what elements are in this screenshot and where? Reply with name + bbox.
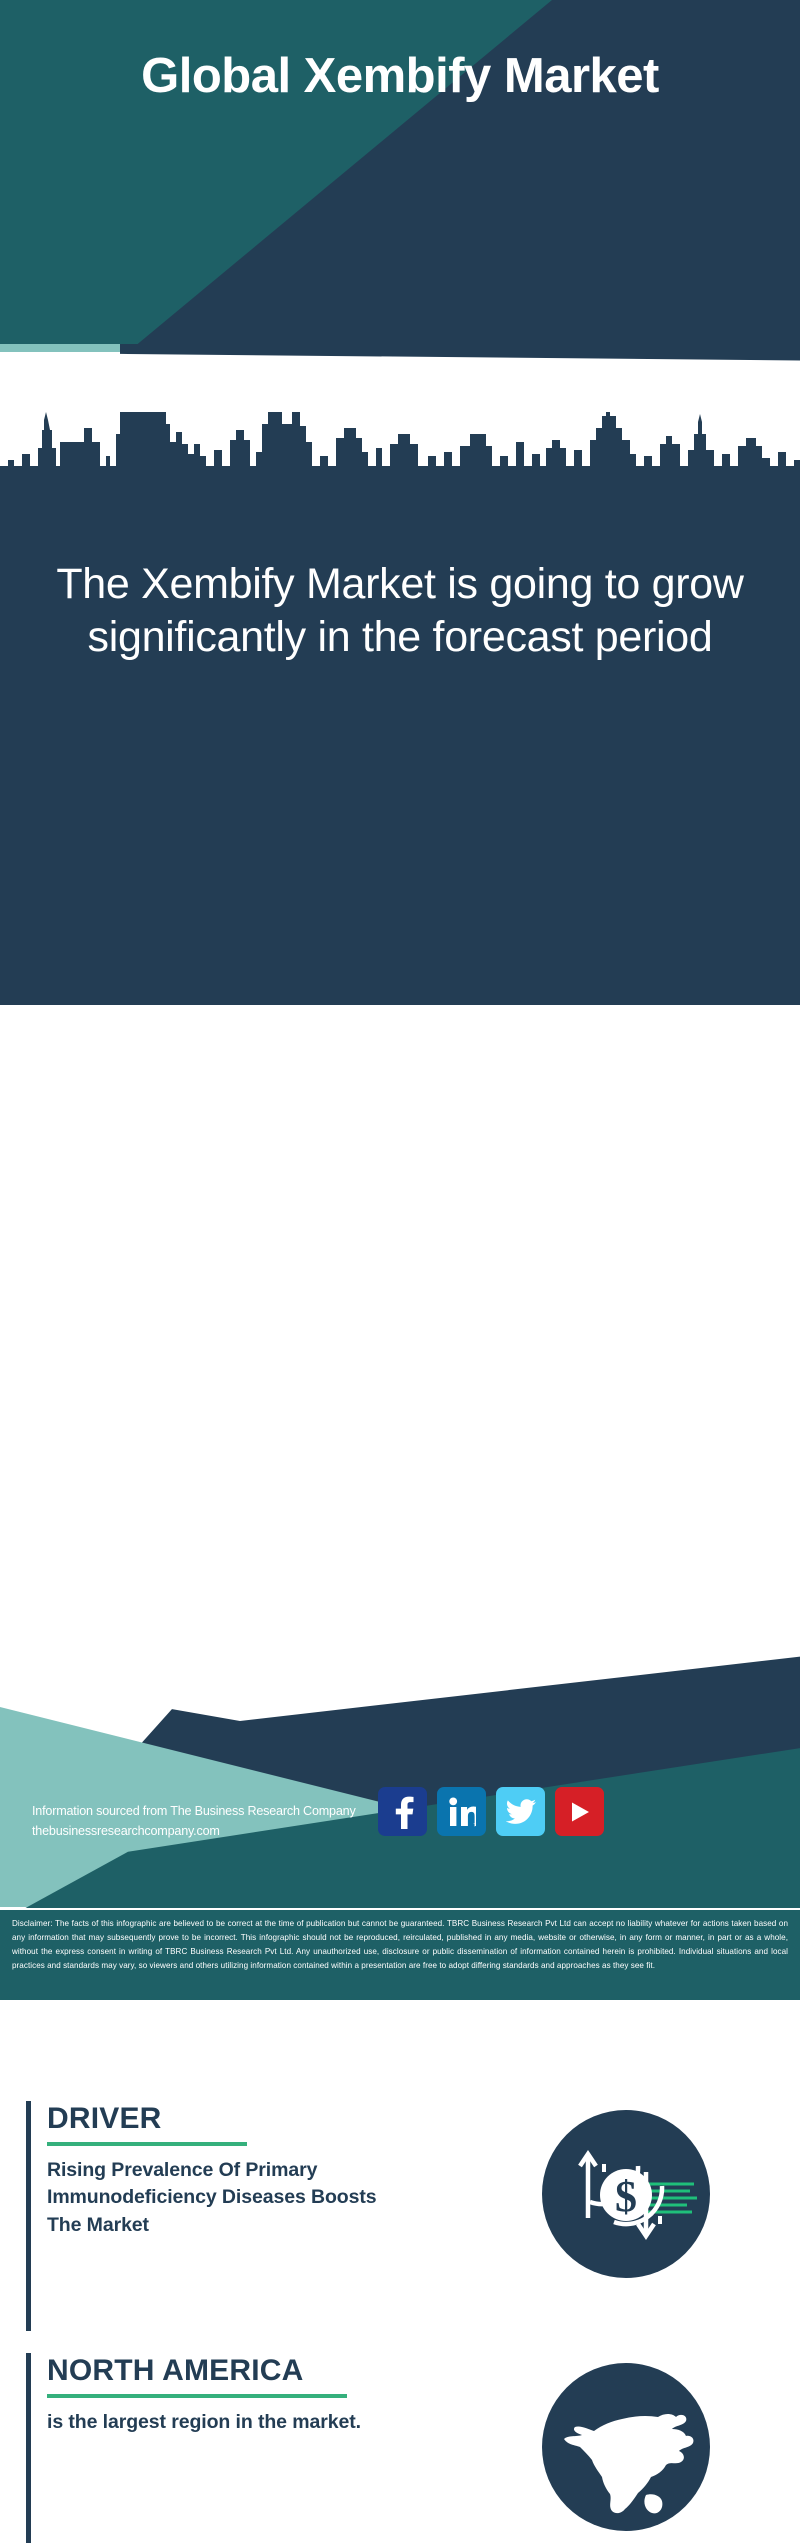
youtube-icon[interactable] — [555, 1787, 604, 1836]
city-skyline-silhouette-icon — [0, 408, 800, 478]
fact-underline — [47, 2142, 247, 2146]
fact-text-driver: Rising Prevalence Of Primary Immunodefic… — [47, 2157, 416, 2240]
fact-text-region: is the largest region in the market. — [47, 2409, 361, 2437]
north-america-map-icon — [542, 2363, 710, 2531]
svg-text:$: $ — [615, 2172, 637, 2221]
hero-white-strip — [0, 352, 800, 412]
page-title: Global Xembify Market — [0, 0, 800, 352]
infographic-root: Global Xembify Market The Xembify Market… — [0, 0, 800, 2000]
fact-underline — [47, 2394, 347, 2398]
disclaimer-text: Disclaimer: The facts of this infographi… — [12, 1917, 788, 1973]
hero-headline: The Xembify Market is going to grow sign… — [40, 558, 760, 665]
twitter-icon[interactable] — [496, 1787, 545, 1836]
fact-block-driver: DRIVER Rising Prevalence Of Primary Immu… — [26, 2101, 416, 2331]
fact-title-driver: DRIVER — [47, 2103, 162, 2135]
fact-body: NORTH AMERICA is the largest region in t… — [31, 2353, 361, 2543]
linkedin-icon[interactable]: TM — [437, 1787, 486, 1836]
fact-block-region: NORTH AMERICA is the largest region in t… — [26, 2353, 426, 2543]
disclaimer-divider — [0, 1908, 800, 1910]
facebook-icon[interactable] — [378, 1787, 427, 1836]
header-banner: Global Xembify Market — [0, 0, 800, 352]
fact-body: DRIVER Rising Prevalence Of Primary Immu… — [31, 2101, 416, 2331]
fact-title-region: NORTH AMERICA — [47, 2355, 303, 2387]
footer-website-link[interactable]: thebusinessresearchcompany.com — [32, 1821, 432, 1841]
footer-credit-line-1: Information sourced from The Business Re… — [32, 1801, 432, 1821]
svg-text:TM: TM — [473, 1822, 476, 1827]
dollar-growth-icon: $ — [542, 2110, 710, 2278]
hero-section: The Xembify Market is going to grow sign… — [0, 408, 800, 1005]
facts-section: DRIVER Rising Prevalence Of Primary Immu… — [0, 1005, 800, 1651]
footer-credit: Information sourced from The Business Re… — [32, 1801, 432, 1842]
social-links: TM — [378, 1787, 604, 1836]
